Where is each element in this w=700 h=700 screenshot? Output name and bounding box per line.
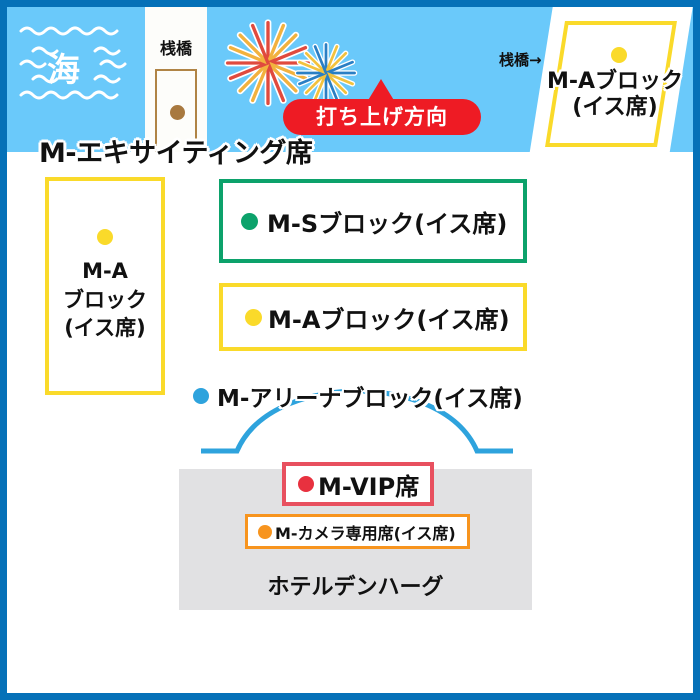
block-arena-dot (193, 388, 209, 404)
sea-label: 海 (47, 43, 81, 91)
block-vip-label: M-VIP席 (318, 467, 419, 502)
exciting-seat-label: M-エキサイティング席 (39, 131, 312, 170)
block-ms-dot (241, 213, 258, 230)
block-ma-left-label: M-A ブロック (イス席) (63, 257, 147, 342)
block-camera[interactable]: M-カメラ専用席(イス席) (245, 514, 470, 549)
launch-direction-banner: 打ち上げ方向 (283, 99, 481, 135)
block-ma-top-right-line2: (イス席) (535, 95, 695, 121)
block-camera-dot (258, 525, 272, 539)
pier-arrow-label: 桟橋→ (499, 49, 542, 70)
block-vip[interactable]: M-VIP席 (282, 462, 434, 506)
pier-label: 桟橋 (150, 35, 202, 59)
firework-blue-yellow-icon (292, 39, 360, 107)
block-ma-left-line2: ブロック (63, 286, 147, 314)
seating-map: 海 桟橋 (0, 0, 700, 700)
block-ma-top-right-line1: M-Aブロック (535, 69, 695, 95)
pier-marker-dot (170, 105, 185, 120)
block-ma-left[interactable]: M-A ブロック (イス席) (45, 177, 165, 395)
block-camera-label: M-カメラ専用席(イス席) (275, 520, 456, 544)
block-arena-label: M-アリーナブロック(イス席) (217, 379, 523, 413)
block-ma-top-right-label: M-Aブロック (イス席) (535, 69, 695, 121)
block-arena[interactable]: M-アリーナブロック(イス席) (193, 379, 523, 413)
block-ma-center[interactable]: M-Aブロック(イス席) (219, 283, 527, 351)
block-ma-top-right-dot (611, 47, 627, 63)
hotel-label: ホテルデンハーグ (179, 569, 532, 601)
block-ma-center-dot (245, 309, 262, 326)
block-ma-left-dot (97, 229, 113, 245)
block-ma-center-label: M-Aブロック(イス席) (268, 300, 510, 335)
block-ma-left-line1: M-A (63, 257, 147, 285)
block-ms[interactable]: M-Sブロック(イス席) (219, 179, 527, 263)
block-vip-dot (298, 476, 314, 492)
block-ms-label: M-Sブロック(イス席) (267, 204, 507, 239)
block-ma-left-line3: (イス席) (63, 314, 147, 342)
